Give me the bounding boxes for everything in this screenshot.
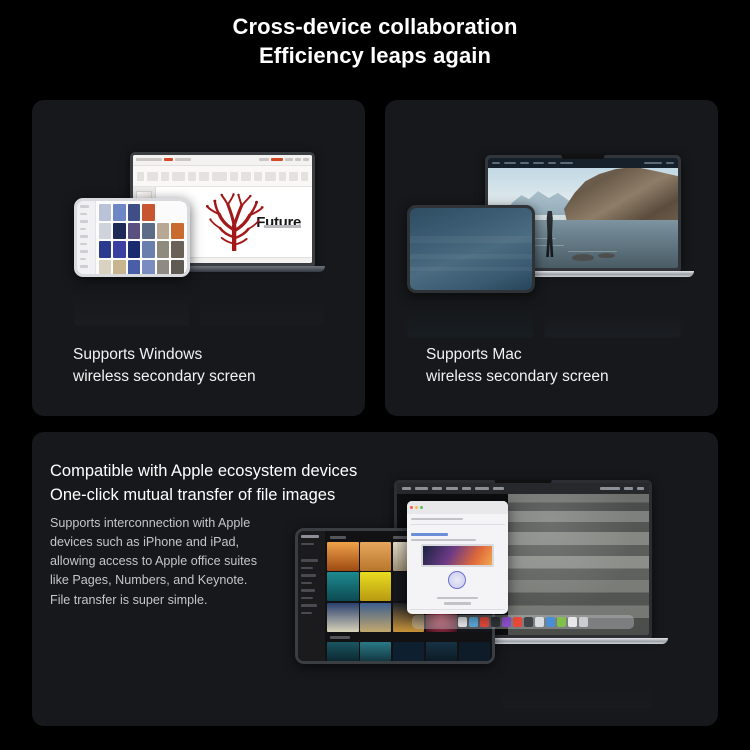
panel-section-title: [407, 529, 508, 541]
gallery-cell[interactable]: [113, 241, 126, 258]
panel-titlebar: [407, 501, 508, 513]
mac-menubar[interactable]: [397, 483, 649, 494]
gallery-cell[interactable]: [171, 241, 184, 258]
laptop-lid: [394, 480, 652, 638]
gallery-cell[interactable]: [360, 572, 391, 601]
dock-icon[interactable]: [568, 617, 577, 628]
gallery-cell[interactable]: [99, 241, 112, 258]
gallery-cell[interactable]: [113, 223, 126, 239]
body-line3: allowing access to Apple office suites: [50, 552, 305, 571]
gallery-cell[interactable]: [171, 204, 184, 221]
body-line4: like Pages, Numbers, and Keynote.: [50, 571, 305, 590]
dock-icon[interactable]: [480, 617, 489, 628]
app-titlebar: [133, 155, 312, 166]
dock-icon[interactable]: [524, 617, 533, 628]
gallery-cell[interactable]: [99, 223, 112, 239]
caption-line1: Supports Windows: [73, 344, 256, 366]
gallery-cell[interactable]: [360, 603, 391, 632]
gallery-row: [99, 241, 184, 258]
mac-tablet: [407, 205, 535, 293]
body-line5: File transfer is super simple.: [50, 591, 305, 610]
shore-rock: [572, 254, 595, 262]
gallery-sidebar[interactable]: [298, 531, 325, 661]
dock-icon[interactable]: [513, 617, 522, 628]
gallery-cell[interactable]: [171, 260, 184, 275]
device-reflection: [74, 280, 324, 326]
gallery-cell[interactable]: [99, 204, 112, 221]
laptop-screen: [397, 483, 649, 635]
gallery-cell[interactable]: [128, 223, 141, 239]
screen-notch: [561, 155, 604, 159]
device-reflection: [407, 296, 681, 338]
gallery-cell[interactable]: [157, 204, 170, 221]
airdrop-target-icon[interactable]: [448, 571, 466, 589]
apple-card-body: Supports interconnection with Apple devi…: [50, 514, 305, 610]
apple-macbook: [394, 480, 652, 644]
heading-line1: Compatible with Apple ecosystem devices: [50, 460, 357, 484]
dock-icon[interactable]: [491, 617, 500, 628]
gallery-cell[interactable]: [327, 542, 358, 571]
card-apple-ecosystem[interactable]: Compatible with Apple ecosystem devices …: [32, 432, 718, 726]
dock-icon[interactable]: [557, 617, 566, 628]
card-supports-windows[interactable]: nts Future: [32, 100, 365, 416]
mirrored-display: [410, 208, 532, 290]
close-icon[interactable]: [410, 506, 413, 509]
gallery-row: [327, 642, 490, 664]
dock-icon[interactable]: [546, 617, 555, 628]
dock-icon[interactable]: [502, 617, 511, 628]
dock-icon[interactable]: [458, 617, 467, 628]
gallery-cell[interactable]: [327, 572, 358, 601]
divider: [410, 524, 505, 525]
heading-line2: One-click mutual transfer of file images: [50, 484, 357, 508]
tablet-screen: [74, 198, 190, 277]
app-ribbon: [133, 166, 312, 188]
apple-card-heading: Compatible with Apple ecosystem devices …: [50, 460, 357, 508]
coral-artwork: [203, 193, 265, 251]
gallery-cell[interactable]: [459, 642, 490, 664]
body-line1: Supports interconnection with Apple: [50, 514, 305, 533]
device-thumbnail[interactable]: [421, 544, 494, 566]
body-line2: devices such as iPhone and iPad,: [50, 533, 305, 552]
gallery-cell[interactable]: [360, 542, 391, 571]
device-reflection: [295, 668, 652, 708]
gallery-cell[interactable]: [360, 642, 391, 664]
file-transfer-panel[interactable]: [407, 501, 508, 613]
gallery-cell[interactable]: [128, 241, 141, 258]
card-caption-windows: Supports Windows wireless secondary scre…: [73, 344, 256, 388]
shore-rock: [598, 253, 615, 259]
card-caption-mac: Supports Mac wireless secondary screen: [426, 344, 609, 388]
gallery-row: [99, 204, 184, 221]
panel-header-row: [407, 514, 508, 521]
windows-tablet: [74, 198, 190, 277]
desktop-wallpaper: [508, 494, 649, 635]
macos-dock[interactable]: [412, 615, 634, 629]
page-title: Cross-device collaboration Efficiency le…: [0, 0, 750, 70]
dock-icon[interactable]: [469, 617, 478, 628]
maximize-icon[interactable]: [420, 506, 423, 509]
macos-desktop: [397, 483, 649, 635]
gallery-cell[interactable]: [113, 204, 126, 221]
minimize-icon[interactable]: [415, 506, 418, 509]
gallery-cell[interactable]: [157, 260, 170, 275]
gallery-cell[interactable]: [142, 260, 155, 275]
tablet-screen: [407, 205, 535, 293]
gallery-cell[interactable]: [142, 241, 155, 258]
card-supports-mac[interactable]: Supports Mac wireless secondary screen: [385, 100, 718, 416]
dock-icon[interactable]: [579, 617, 588, 628]
gallery-cell[interactable]: [327, 603, 358, 632]
gallery-cell[interactable]: [142, 204, 155, 221]
caption-line2: wireless secondary screen: [426, 366, 609, 388]
dock-icon[interactable]: [535, 617, 544, 628]
caption-line1: Supports Mac: [426, 344, 609, 366]
gallery-grid[interactable]: [96, 201, 187, 274]
photo-gallery-light: [77, 201, 187, 274]
gallery-cell[interactable]: [142, 223, 155, 239]
gallery-cell[interactable]: [128, 204, 141, 221]
gallery-cell[interactable]: [157, 241, 170, 258]
gallery-cell[interactable]: [128, 260, 141, 275]
slide-subtitle-bar: [264, 225, 301, 228]
gallery-cell[interactable]: [113, 260, 126, 275]
gallery-section-label: [327, 633, 490, 642]
gallery-cell[interactable]: [157, 223, 170, 239]
gallery-cell[interactable]: [327, 642, 358, 664]
gallery-sidebar[interactable]: [77, 201, 96, 274]
mac-menubar[interactable]: [488, 158, 678, 168]
page-title-line2: Efficiency leaps again: [0, 41, 750, 70]
gallery-cell[interactable]: [393, 642, 424, 664]
target-label: [407, 593, 508, 605]
page-title-line1: Cross-device collaboration: [232, 14, 517, 39]
top-cards-row: nts Future: [32, 100, 718, 416]
gallery-cell[interactable]: [99, 260, 112, 275]
divider: [410, 609, 505, 610]
gallery-row: [99, 223, 184, 239]
caption-line2: wireless secondary screen: [73, 366, 256, 388]
gallery-cell[interactable]: [426, 642, 457, 664]
gallery-row: [99, 260, 184, 275]
gallery-cell[interactable]: [171, 223, 184, 239]
